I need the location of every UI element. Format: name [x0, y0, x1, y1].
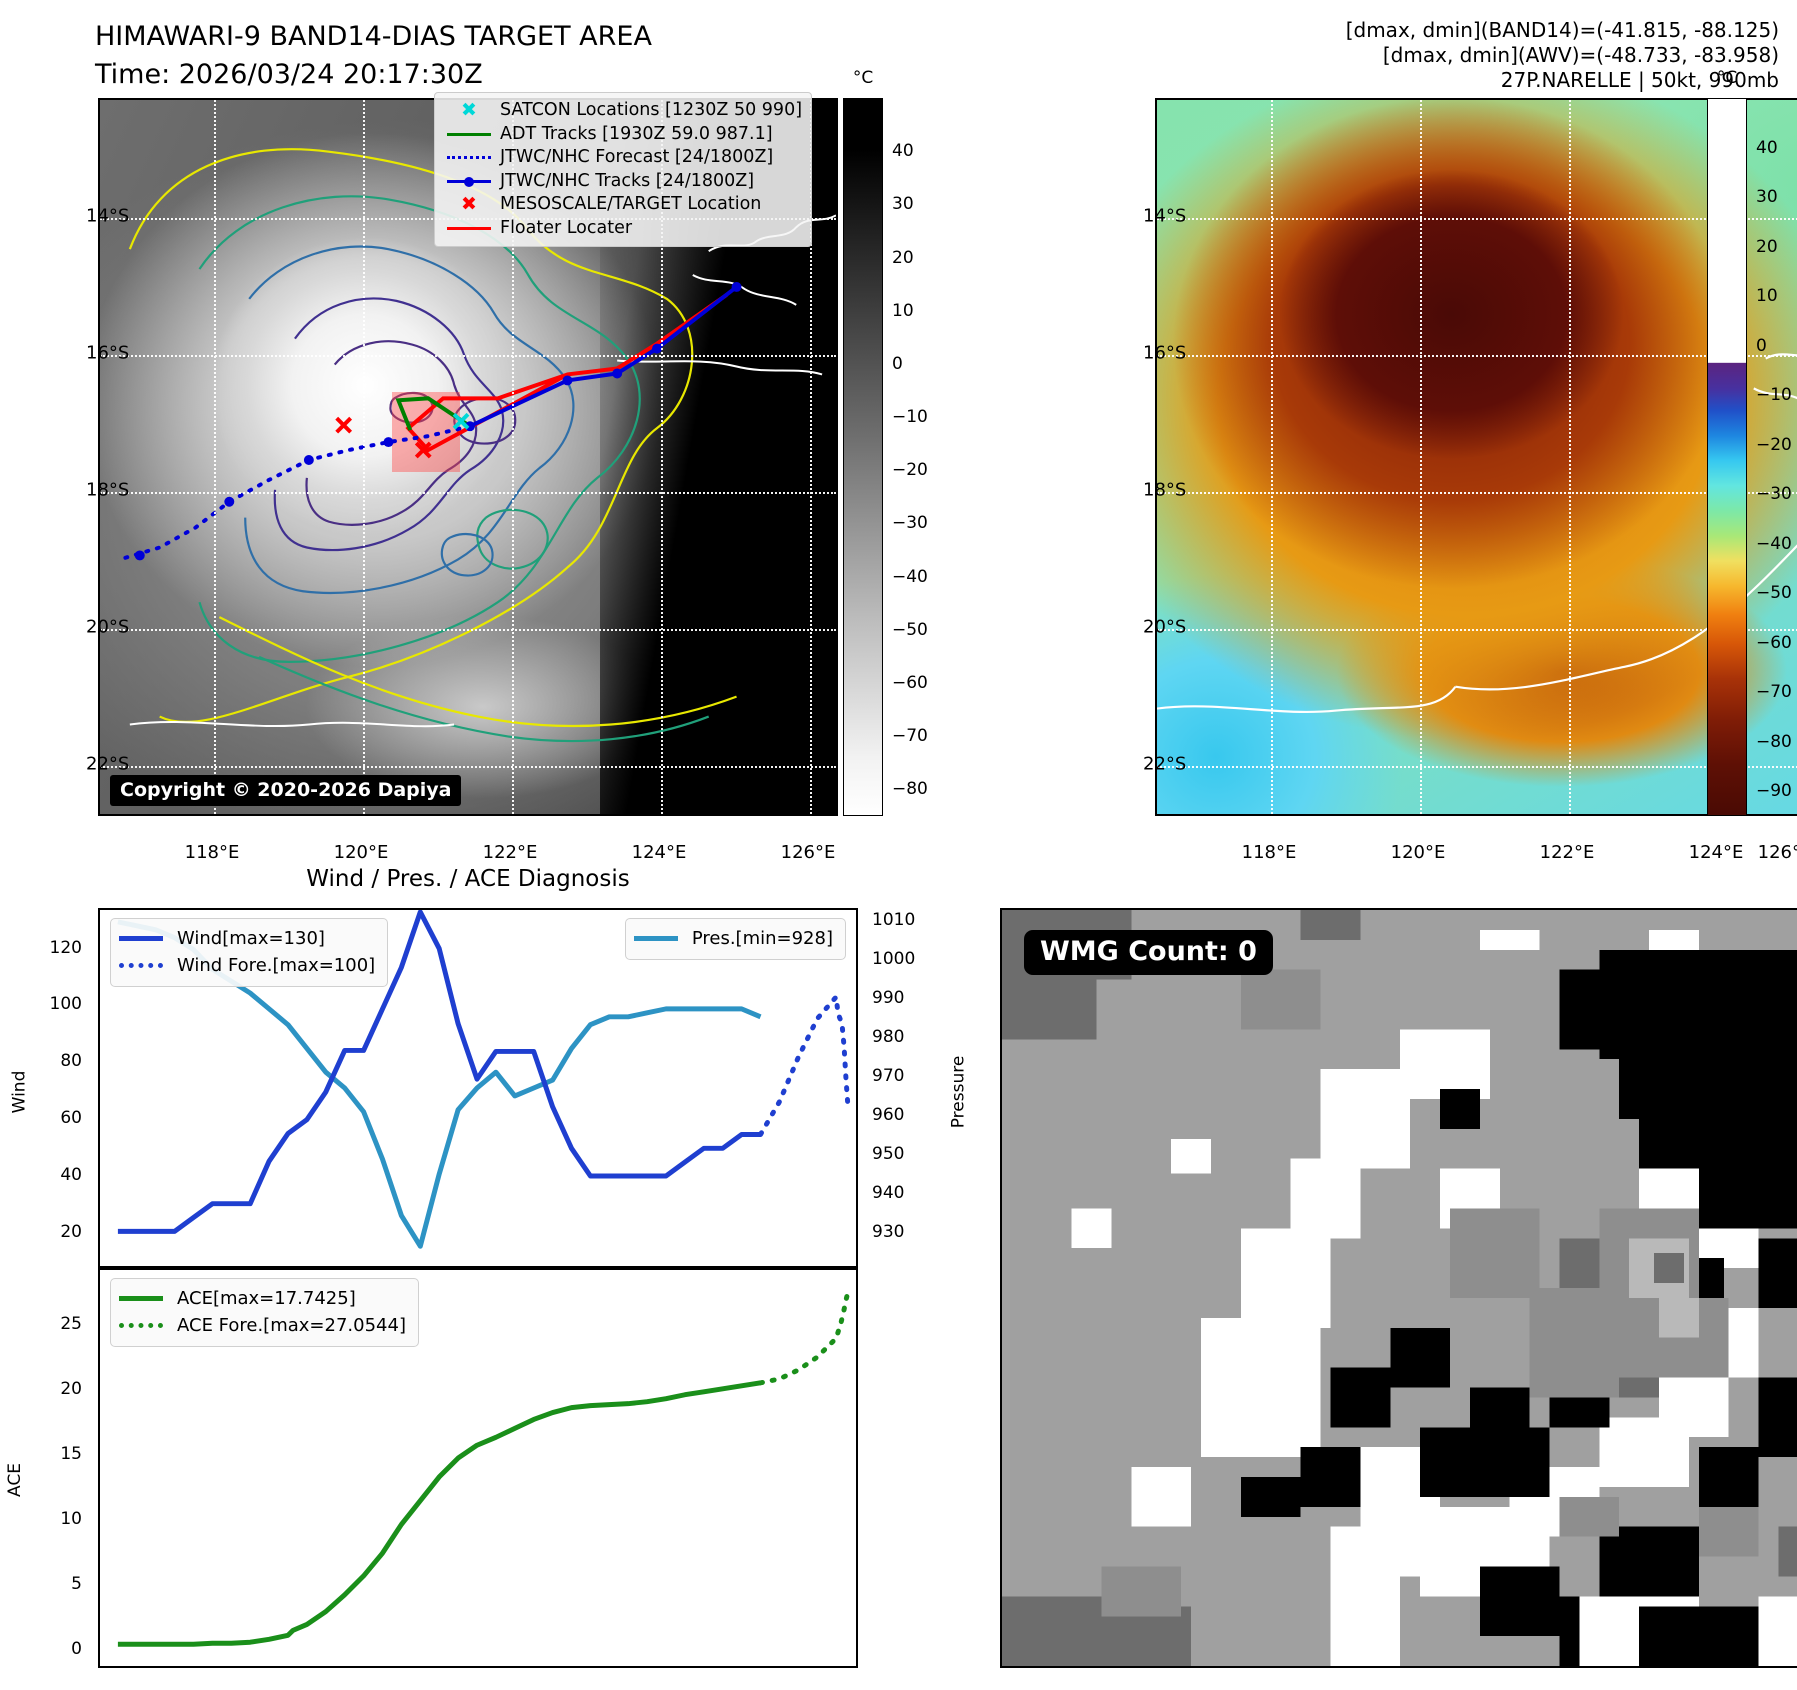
wind-ytick-40: 40	[60, 1165, 82, 1185]
lon-tick-126e: 126°E	[781, 842, 836, 863]
legend-item-mesoscale[interactable]: ✖ MESOSCALE/TARGET Location	[442, 193, 802, 217]
awv-lon-tick-120e: 120°E	[1391, 842, 1446, 863]
colorbar-left-tick: −50	[892, 620, 928, 640]
pres-ytick-970: 970	[872, 1066, 904, 1086]
wind-axis-label: Wind	[9, 1071, 29, 1114]
wind-pres-ace-title: Wind / Pres. / ACE Diagnosis	[98, 866, 838, 892]
ace-series	[118, 1383, 761, 1644]
colorbar-left-tick: 30	[892, 194, 914, 214]
gridline-lat-20	[100, 629, 836, 631]
gridline-lat-22	[1157, 766, 1797, 768]
colorbar-left-unit: °C	[853, 68, 873, 88]
legend-item-floater[interactable]: Floater Locater	[442, 217, 802, 241]
wind-forecast-series	[761, 997, 849, 1134]
pres-ytick-1010: 1010	[872, 910, 915, 930]
ace-line-icon	[119, 1296, 171, 1301]
wind-forecast-dotted-icon	[119, 963, 171, 968]
ace-ytick-25: 25	[60, 1314, 82, 1334]
wind-ytick-100: 100	[50, 994, 82, 1014]
ace-ytick-10: 10	[60, 1509, 82, 1529]
colorbar-right-tick: −90	[1756, 781, 1792, 801]
legend-label: SATCON Locations [1230Z 50 990]	[496, 99, 802, 123]
lon-tick-118e: 118°E	[185, 842, 240, 863]
awv-lon-tick-126e: 126°E	[1758, 842, 1797, 863]
awv-enhanced-ir-map[interactable]	[1155, 98, 1797, 816]
colorbar-left-tick: −60	[892, 673, 928, 693]
colorbar-right-tick: 10	[1756, 286, 1778, 306]
legend-label: Floater Locater	[496, 217, 632, 241]
gridline-lat-18	[1157, 492, 1797, 494]
page-title: HIMAWARI-9 BAND14-DIAS TARGET AREA Time:…	[95, 18, 652, 94]
gridline-lon-118	[1271, 100, 1273, 814]
pressure-legend: Pres.[min=928]	[625, 918, 846, 960]
gridline-lat-14	[1157, 218, 1797, 220]
map-legend: ✖ SATCON Locations [1230Z 50 990] ADT Tr…	[434, 92, 812, 247]
title-line-1: HIMAWARI-9 BAND14-DIAS TARGET AREA	[95, 18, 652, 56]
colorbar-right-tick: 20	[1756, 237, 1778, 257]
wmg-cluster-map[interactable]: WMG Count: 0	[1000, 908, 1797, 1668]
pressure-line-icon	[634, 936, 686, 941]
header-stats: [dmax, dmin](BAND14)=(-41.815, -88.125) …	[1346, 18, 1779, 93]
pres-ytick-940: 940	[872, 1183, 904, 1203]
colorbar-left-tick: −70	[892, 726, 928, 746]
ace-forecast-dotted-icon	[119, 1323, 171, 1328]
legend-label: ADT Tracks [1930Z 59.0 987.1]	[496, 123, 773, 147]
colorbar-right-tick: −10	[1756, 385, 1792, 405]
storm-identifier: 27P.NARELLE | 50kt, 990mb	[1346, 68, 1779, 93]
gridline-lat-16	[1157, 355, 1797, 357]
pressure-axis-label: Pressure	[948, 1056, 968, 1129]
legend-item-wind[interactable]: Wind[max=130]	[119, 925, 375, 952]
pres-ytick-950: 950	[872, 1144, 904, 1164]
pres-ytick-980: 980	[872, 1027, 904, 1047]
colorbar-left-tick: −30	[892, 513, 928, 533]
colorbar-right-tick: −20	[1756, 435, 1792, 455]
awv-lon-tick-118e: 118°E	[1242, 842, 1297, 863]
gridline-lat-18	[100, 492, 836, 494]
stat-band14: [dmax, dmin](BAND14)=(-41.815, -88.125)	[1346, 18, 1779, 43]
ace-chart[interactable]: ACE[max=17.7425] ACE Fore.[max=27.0544]	[98, 1268, 858, 1668]
legend-label: Pres.[min=928]	[686, 925, 833, 952]
colorbar-left[interactable]	[843, 98, 883, 816]
pres-ytick-1000: 1000	[872, 949, 915, 969]
legend-label: JTWC/NHC Forecast [24/1800Z]	[496, 146, 773, 170]
colorbar-right-tick: −80	[1756, 732, 1792, 752]
satcon-x-icon: ✖	[442, 101, 496, 120]
wind-ytick-120: 120	[50, 938, 82, 958]
colorbar-right-tick: 40	[1756, 138, 1778, 158]
colorbar-left-tick: 10	[892, 301, 914, 321]
track-line-marker-icon	[442, 176, 496, 186]
awv-lon-tick-124e: 124°E	[1689, 842, 1744, 863]
wind-ytick-20: 20	[60, 1222, 82, 1242]
gridline-lon-118	[214, 100, 216, 814]
lon-tick-120e: 120°E	[334, 842, 389, 863]
jtwc-nhc-track-points	[135, 282, 742, 560]
gridline-lat-22	[100, 766, 836, 768]
colorbar-right-unit: °C	[1717, 68, 1737, 88]
ace-legend: ACE[max=17.7425] ACE Fore.[max=27.0544]	[110, 1278, 419, 1347]
colorbar-right-tick: −40	[1756, 534, 1792, 554]
legend-label: Wind[max=130]	[171, 925, 325, 952]
wmg-count-badge: WMG Count: 0	[1024, 930, 1273, 975]
lon-tick-122e: 122°E	[483, 842, 538, 863]
forecast-dotted-line-icon	[442, 156, 496, 159]
ace-ytick-20: 20	[60, 1379, 82, 1399]
legend-item-ace[interactable]: ACE[max=17.7425]	[119, 1285, 406, 1312]
legend-item-adt[interactable]: ADT Tracks [1930Z 59.0 987.1]	[442, 123, 802, 147]
colorbar-right-tick: −50	[1756, 583, 1792, 603]
colorbar-left-tick: 40	[892, 141, 914, 161]
wind-ytick-80: 80	[60, 1051, 82, 1071]
ace-ytick-5: 5	[71, 1574, 82, 1594]
legend-label: ACE[max=17.7425]	[171, 1285, 356, 1312]
colorbar-right-tick: −70	[1756, 682, 1792, 702]
title-line-2: Time: 2026/03/24 20:17:30Z	[95, 56, 652, 94]
colorbar-left-tick: −20	[892, 460, 928, 480]
pres-ytick-930: 930	[872, 1222, 904, 1242]
legend-item-ace-forecast[interactable]: ACE Fore.[max=27.0544]	[119, 1312, 406, 1339]
adt-line-icon	[442, 133, 496, 136]
colorbar-right[interactable]	[1707, 98, 1747, 816]
gridline-lat-20	[1157, 629, 1797, 631]
ace-ytick-15: 15	[60, 1444, 82, 1464]
legend-label: ACE Fore.[max=27.0544]	[171, 1312, 406, 1339]
colorbar-left-tick: 20	[892, 248, 914, 268]
colorbar-right-tick: −60	[1756, 633, 1792, 653]
lon-tick-124e: 124°E	[632, 842, 687, 863]
stat-awv: [dmax, dmin](AWV)=(-48.733, -83.958)	[1346, 43, 1779, 68]
awv-coastline-overlay	[1157, 100, 1797, 814]
colorbar-left-tick: −10	[892, 407, 928, 427]
mesoscale-x-icon: ✖	[442, 195, 496, 214]
ace-ytick-0: 0	[71, 1639, 82, 1659]
wind-line-icon	[119, 936, 171, 941]
pres-ytick-960: 960	[872, 1105, 904, 1125]
gridline-lon-120	[1420, 100, 1422, 814]
gridline-lat-16	[100, 355, 836, 357]
colorbar-left-tick: 0	[892, 354, 903, 374]
legend-label: JTWC/NHC Tracks [24/1800Z]	[496, 170, 754, 194]
copyright-badge: Copyright © 2020-2026 Dapiya	[110, 775, 461, 806]
wmg-cell-grid	[1002, 910, 1797, 1666]
ace-forecast-series	[761, 1292, 849, 1383]
legend-label: Wind Fore.[max=100]	[171, 952, 375, 979]
wind-legend: Wind[max=130] Wind Fore.[max=100]	[110, 918, 388, 987]
legend-label: MESOSCALE/TARGET Location	[496, 193, 761, 217]
wind-ytick-60: 60	[60, 1108, 82, 1128]
colorbar-left-tick: −40	[892, 567, 928, 587]
floater-line-icon	[442, 227, 496, 230]
legend-item-satcon[interactable]: ✖ SATCON Locations [1230Z 50 990]	[442, 99, 802, 123]
pres-ytick-990: 990	[872, 988, 904, 1008]
wind-pressure-chart[interactable]: Wind[max=130] Wind Fore.[max=100] Pres.[…	[98, 908, 858, 1268]
legend-item-wind-forecast[interactable]: Wind Fore.[max=100]	[119, 952, 375, 979]
colorbar-right-tick: 30	[1756, 187, 1778, 207]
gridline-lon-122	[1569, 100, 1571, 814]
colorbar-left-tick: −80	[892, 779, 928, 799]
legend-item-jtwc-tracks[interactable]: JTWC/NHC Tracks [24/1800Z]	[442, 170, 802, 194]
legend-item-pressure[interactable]: Pres.[min=928]	[634, 925, 833, 952]
gridline-lon-120	[363, 100, 365, 814]
ace-axis-label: ACE	[5, 1463, 25, 1497]
awv-lon-tick-122e: 122°E	[1540, 842, 1595, 863]
colorbar-right-tick: −30	[1756, 484, 1792, 504]
legend-item-jtwc-forecast[interactable]: JTWC/NHC Forecast [24/1800Z]	[442, 146, 802, 170]
colorbar-right-tick: 0	[1756, 336, 1767, 356]
